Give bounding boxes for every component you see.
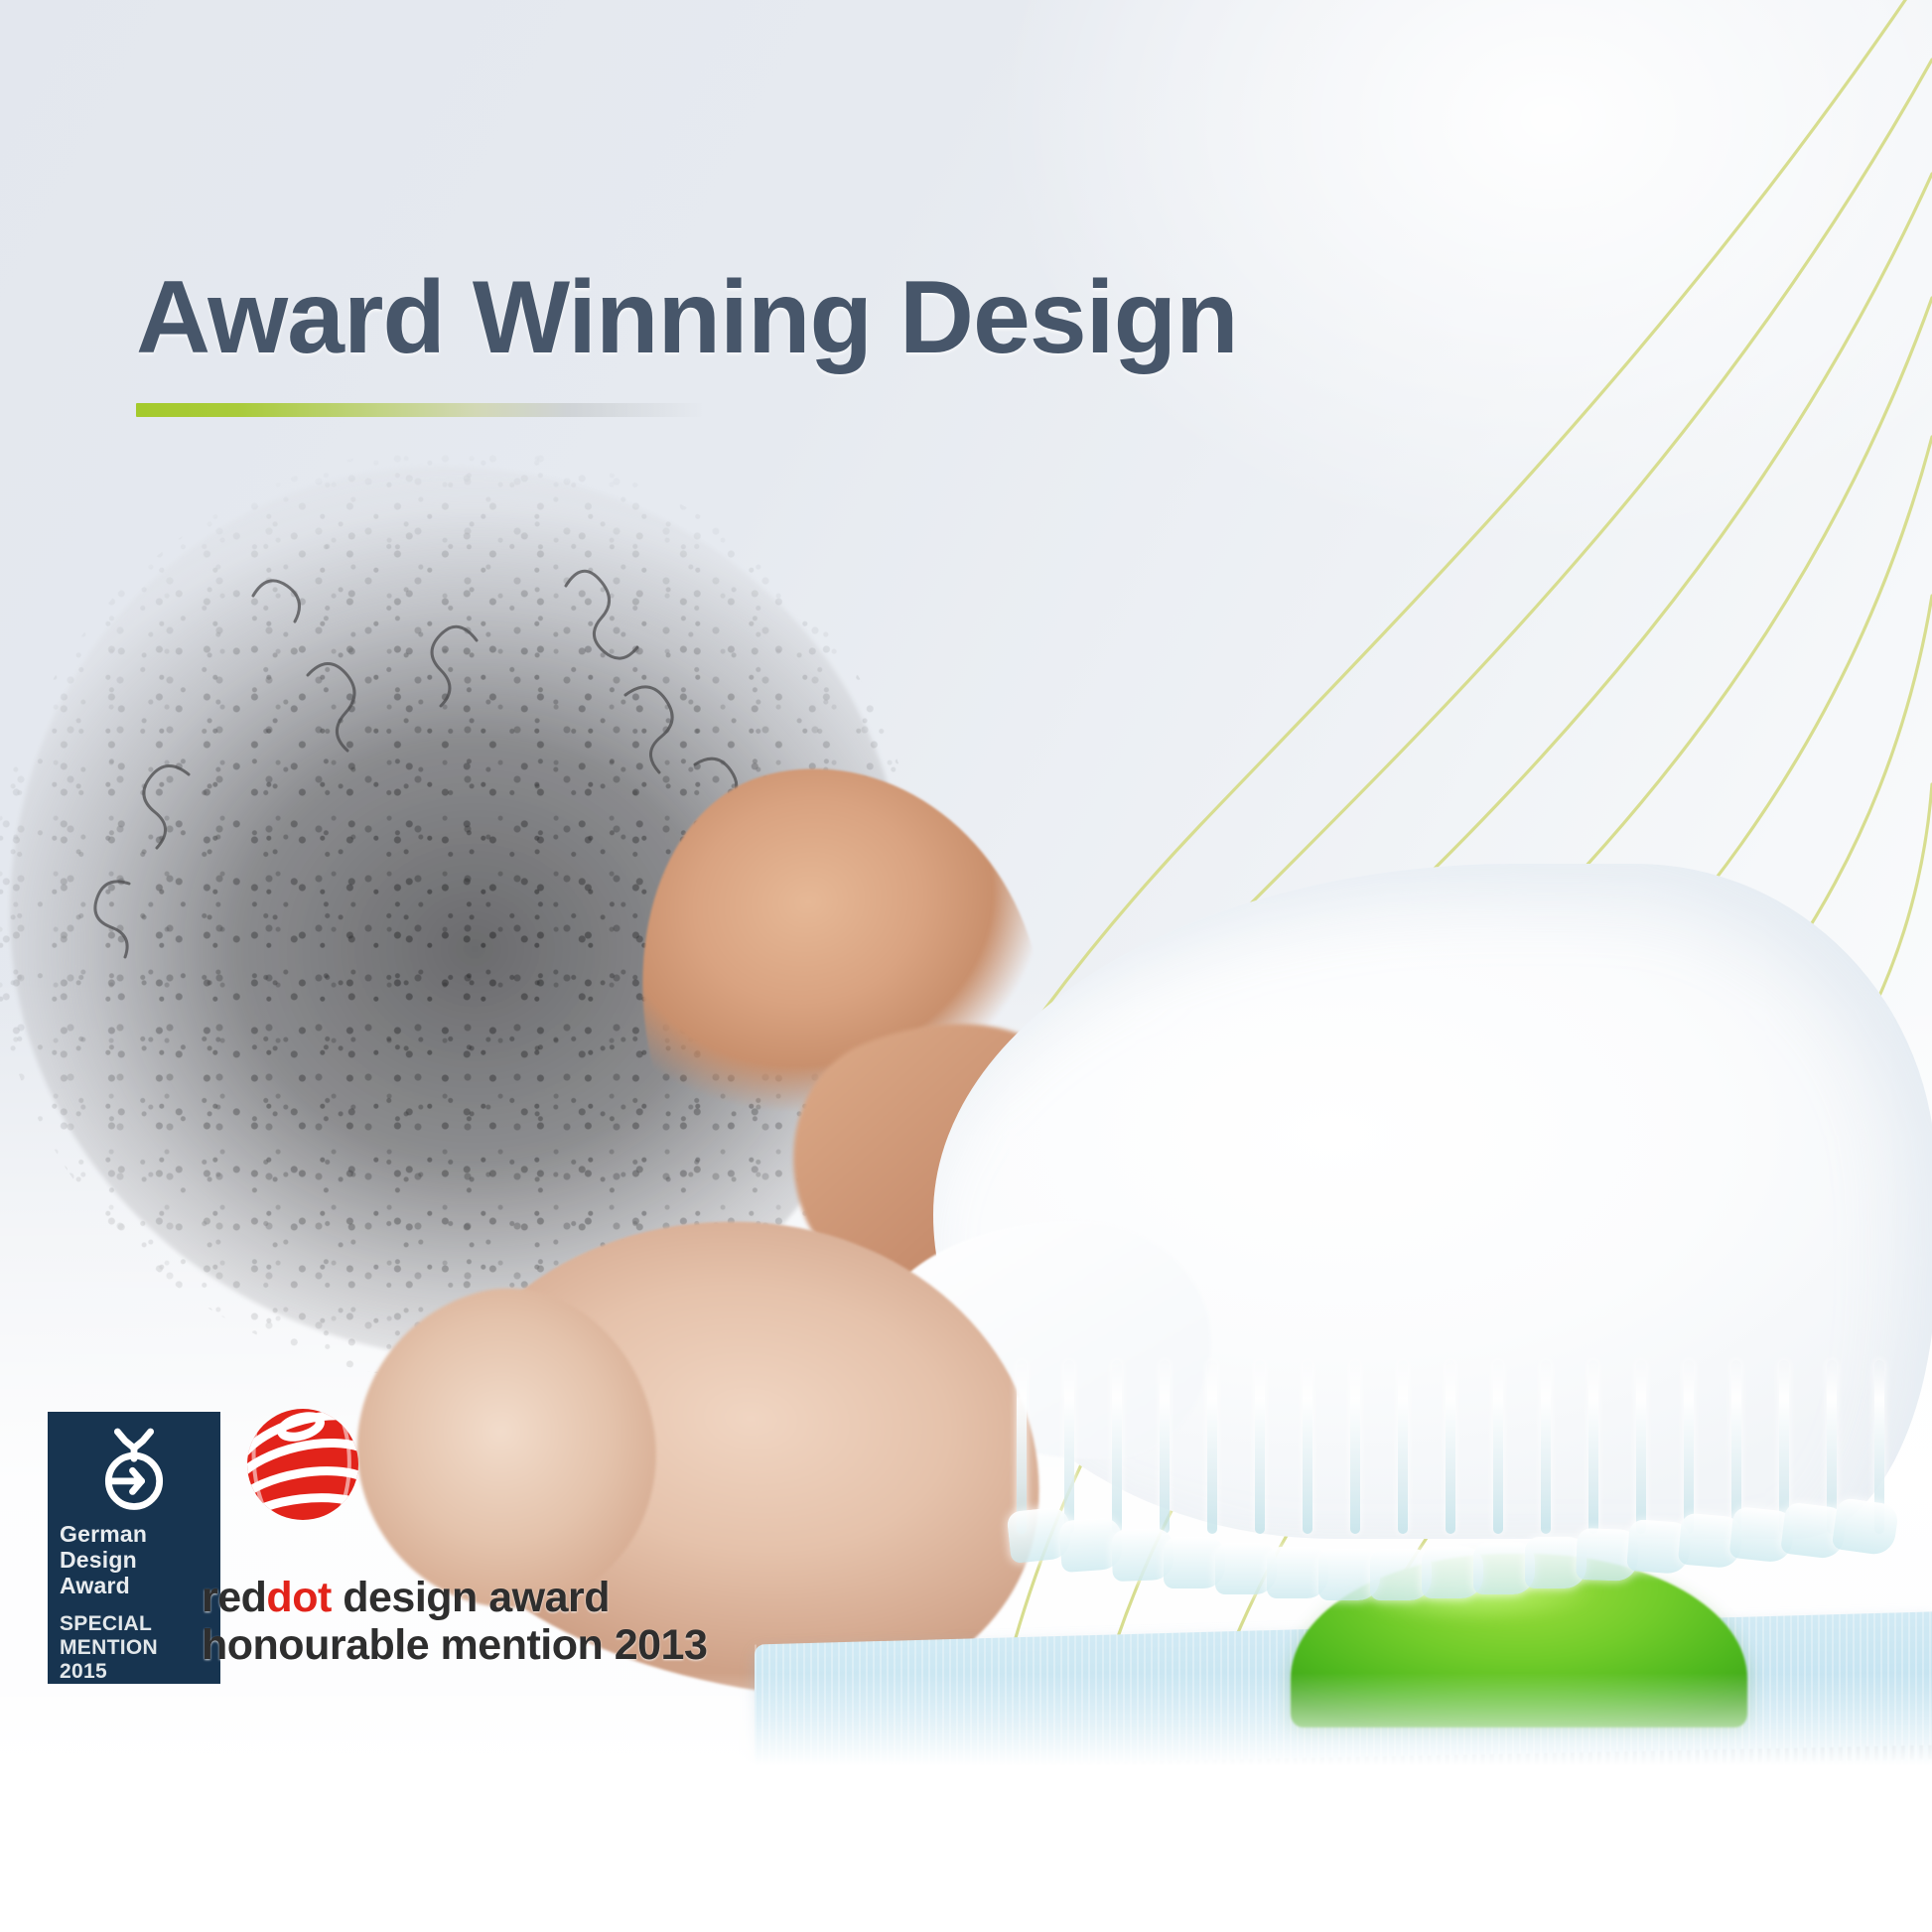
- reddot-word-dot: dot: [266, 1574, 331, 1621]
- spine-xray-overlay: [1003, 1360, 1932, 1688]
- reddot-word-rest: design award: [332, 1574, 610, 1621]
- gda-mention-line1: SPECIAL: [60, 1612, 152, 1635]
- gda-mention-line2: MENTION 2015: [60, 1636, 158, 1683]
- page-title-block: Award Winning Design: [136, 266, 1238, 417]
- german-design-council-icon: [82, 1426, 186, 1513]
- gda-name-line1: German: [60, 1521, 147, 1547]
- reddot-word-red: red: [202, 1574, 266, 1621]
- reddot-line2: honourable mention 2013: [202, 1621, 797, 1669]
- reddot-sphere-icon: [243, 1405, 362, 1524]
- gda-name-line2: Design Award: [60, 1547, 137, 1598]
- promo-banner: Award Winning Design German Design Award…: [0, 0, 1932, 1932]
- reddot-award-block: reddot design award honourable mention 2…: [243, 1405, 799, 1693]
- page-title: Award Winning Design: [136, 266, 1238, 369]
- gda-mention: SPECIAL MENTION 2015: [48, 1612, 220, 1684]
- gda-award-name: German Design Award: [48, 1521, 220, 1599]
- reddot-award-text: reddot design award honourable mention 2…: [202, 1574, 797, 1669]
- title-accent-rule: [136, 403, 704, 417]
- bottom-white-band: [0, 1783, 1932, 1932]
- german-design-award-badge: German Design Award SPECIAL MENTION 2015: [48, 1412, 220, 1684]
